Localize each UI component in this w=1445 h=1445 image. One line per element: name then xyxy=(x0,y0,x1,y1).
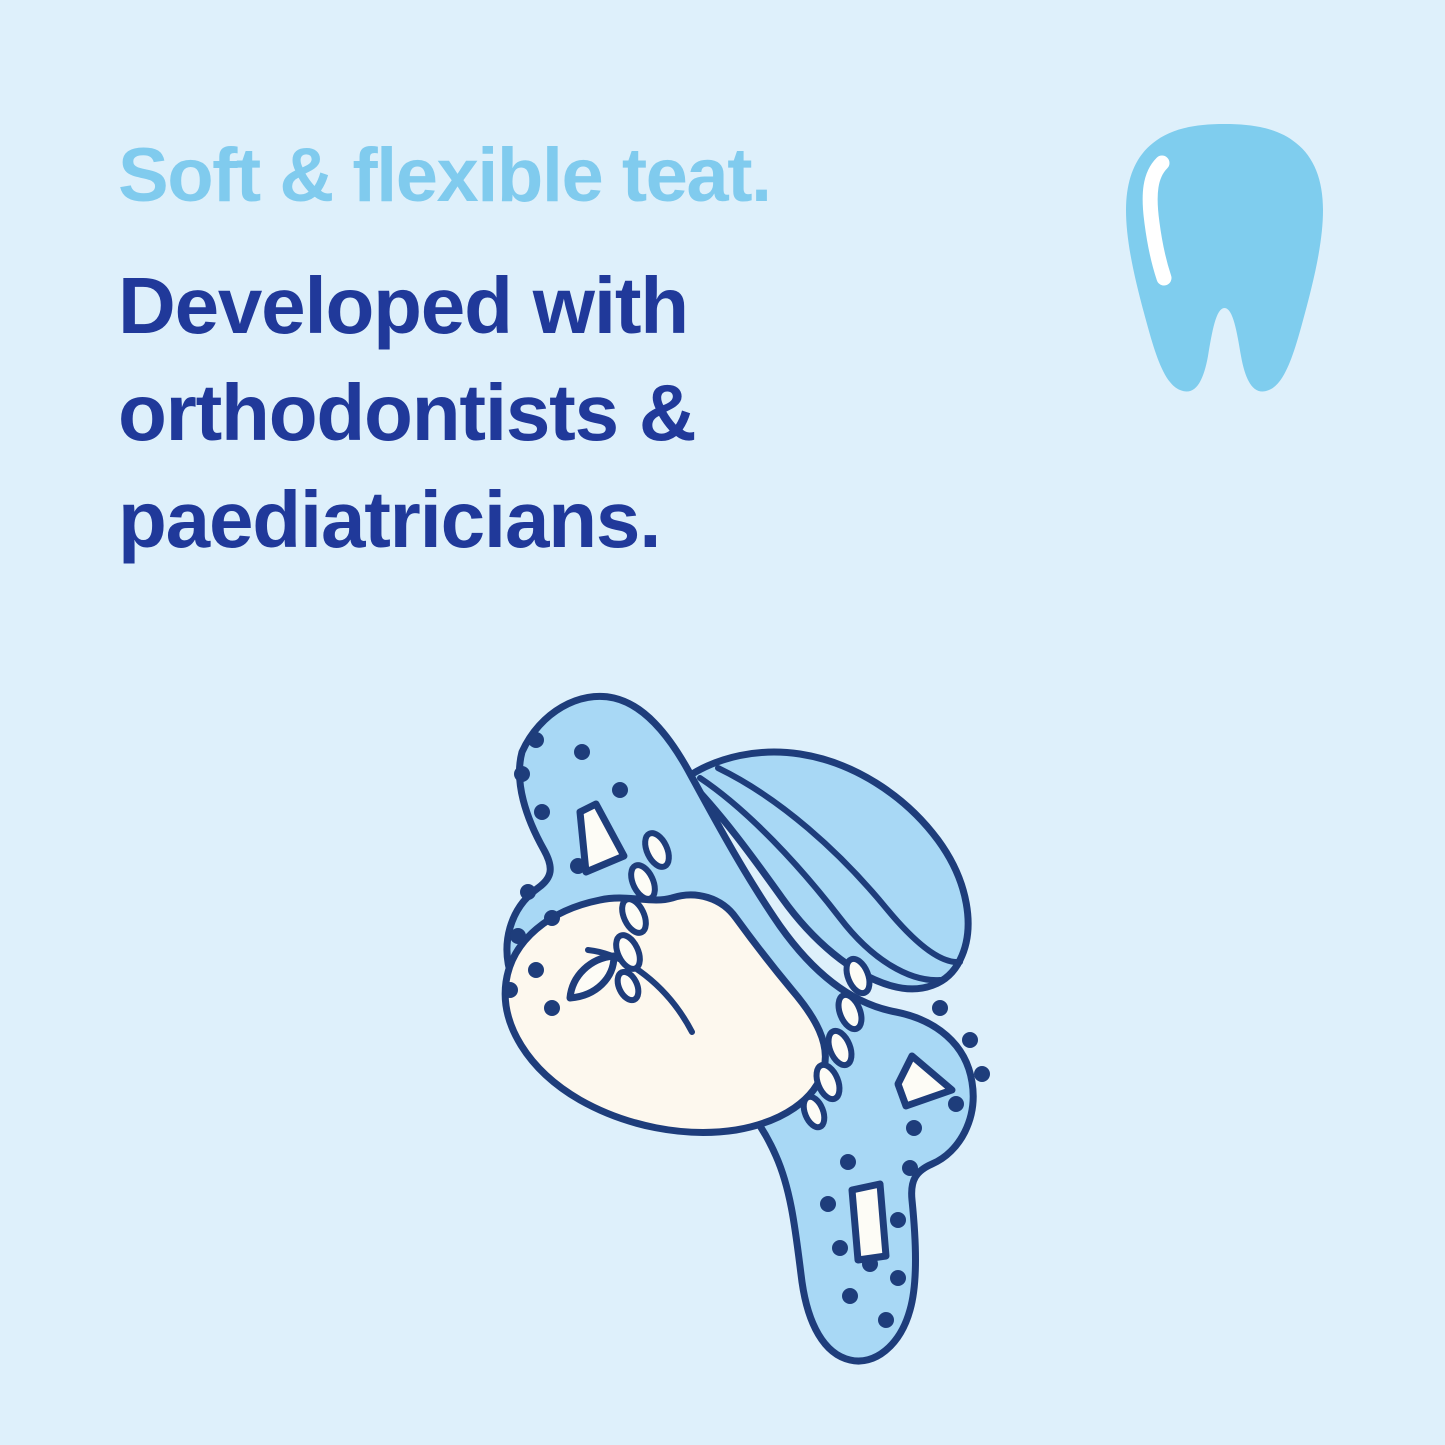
pacifier-illustration xyxy=(400,660,1080,1380)
headline-line-1: Developed with xyxy=(118,252,1048,359)
headline-block: Soft & flexible teat. Developed with ort… xyxy=(118,138,1048,574)
product-feature-card: Soft & flexible teat. Developed with ort… xyxy=(0,0,1445,1445)
page-title: Developed with orthodontists & paediatri… xyxy=(118,252,1048,574)
headline-line-3: paediatricians. xyxy=(118,466,1048,573)
claw-cutout-bottom xyxy=(852,1184,886,1260)
headline-line-2: orthodontists & xyxy=(118,359,1048,466)
eyebrow-text: Soft & flexible teat. xyxy=(118,138,1048,214)
tooth-icon xyxy=(1112,118,1337,398)
